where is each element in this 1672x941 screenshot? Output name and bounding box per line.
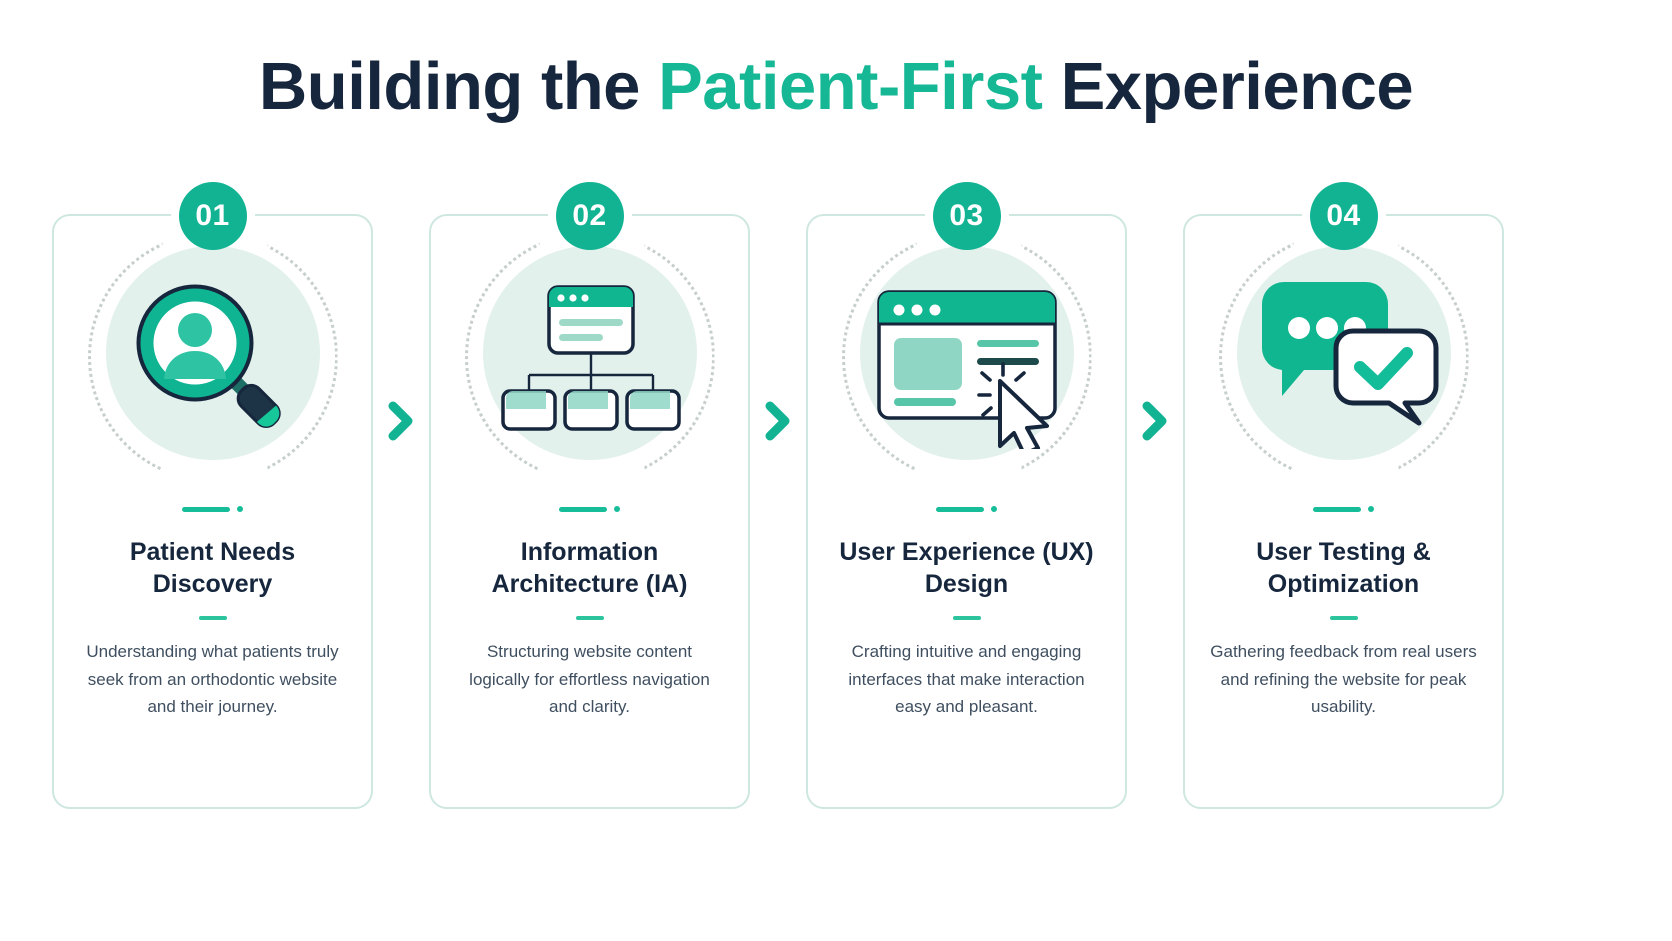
sitemap-hierarchy-icon	[495, 271, 685, 451]
magnifier-person-icon	[123, 271, 303, 451]
page-title-part2: Experience	[1042, 49, 1413, 124]
title-divider-1	[54, 500, 371, 518]
chevron-right-icon	[763, 400, 793, 442]
title-divider-3	[808, 500, 1125, 518]
chevron-right-icon	[386, 400, 416, 442]
title-underline-2	[576, 616, 604, 620]
step-body-3: Crafting intuitive and engaging interfac…	[832, 638, 1101, 721]
step-card-3[interactable]: 03	[806, 214, 1127, 809]
divider-bar	[559, 507, 607, 512]
step-card-1[interactable]: 01	[52, 214, 373, 809]
step-title-3: User Experience (UX) Design	[834, 536, 1099, 600]
arrow-cell-3	[1127, 214, 1183, 809]
divider-bar	[1313, 507, 1361, 512]
browser-cursor-click-icon	[867, 274, 1067, 449]
title-underline-3	[953, 616, 981, 620]
step-icon-area-4	[1185, 216, 1502, 506]
chat-bubbles-check-icon	[1244, 274, 1444, 449]
step-number-badge-4: 04	[1310, 182, 1378, 250]
step-number-badge-3: 03	[933, 182, 1001, 250]
step-card-4[interactable]: 04 User Test	[1183, 214, 1504, 809]
step-icon-area-2	[431, 216, 748, 506]
step-title-1: Patient Needs Discovery	[80, 536, 345, 600]
page-title-part1: Building the	[259, 49, 658, 124]
divider-bar	[936, 507, 984, 512]
step-title-4: User Testing & Optimization	[1211, 536, 1476, 600]
step-body-4: Gathering feedback from real users and r…	[1209, 638, 1478, 721]
step-body-2: Structuring website content logically fo…	[455, 638, 724, 721]
step-number-badge-1: 01	[179, 182, 247, 250]
title-underline-1	[199, 616, 227, 620]
divider-dot	[614, 506, 620, 512]
title-divider-4	[1185, 500, 1502, 518]
step-icon-area-1	[54, 216, 371, 506]
arrow-cell-2	[750, 214, 806, 809]
step-title-2: Information Architecture (IA)	[457, 536, 722, 600]
step-icon-area-3	[808, 216, 1125, 506]
arrow-cell-1	[373, 214, 429, 809]
chevron-right-icon	[1140, 400, 1170, 442]
process-steps-row: 01	[52, 214, 1626, 809]
step-number-badge-2: 02	[556, 182, 624, 250]
divider-bar	[182, 507, 230, 512]
divider-dot	[1368, 506, 1374, 512]
divider-dot	[237, 506, 243, 512]
divider-dot	[991, 506, 997, 512]
infographic-canvas: Building the Patient-First Experience 01	[0, 0, 1672, 941]
page-title: Building the Patient-First Experience	[0, 48, 1672, 125]
title-underline-4	[1330, 616, 1358, 620]
page-title-accent: Patient-First	[658, 49, 1042, 124]
title-divider-2	[431, 500, 748, 518]
step-card-2[interactable]: 02	[429, 214, 750, 809]
step-body-1: Understanding what patients truly seek f…	[78, 638, 347, 721]
